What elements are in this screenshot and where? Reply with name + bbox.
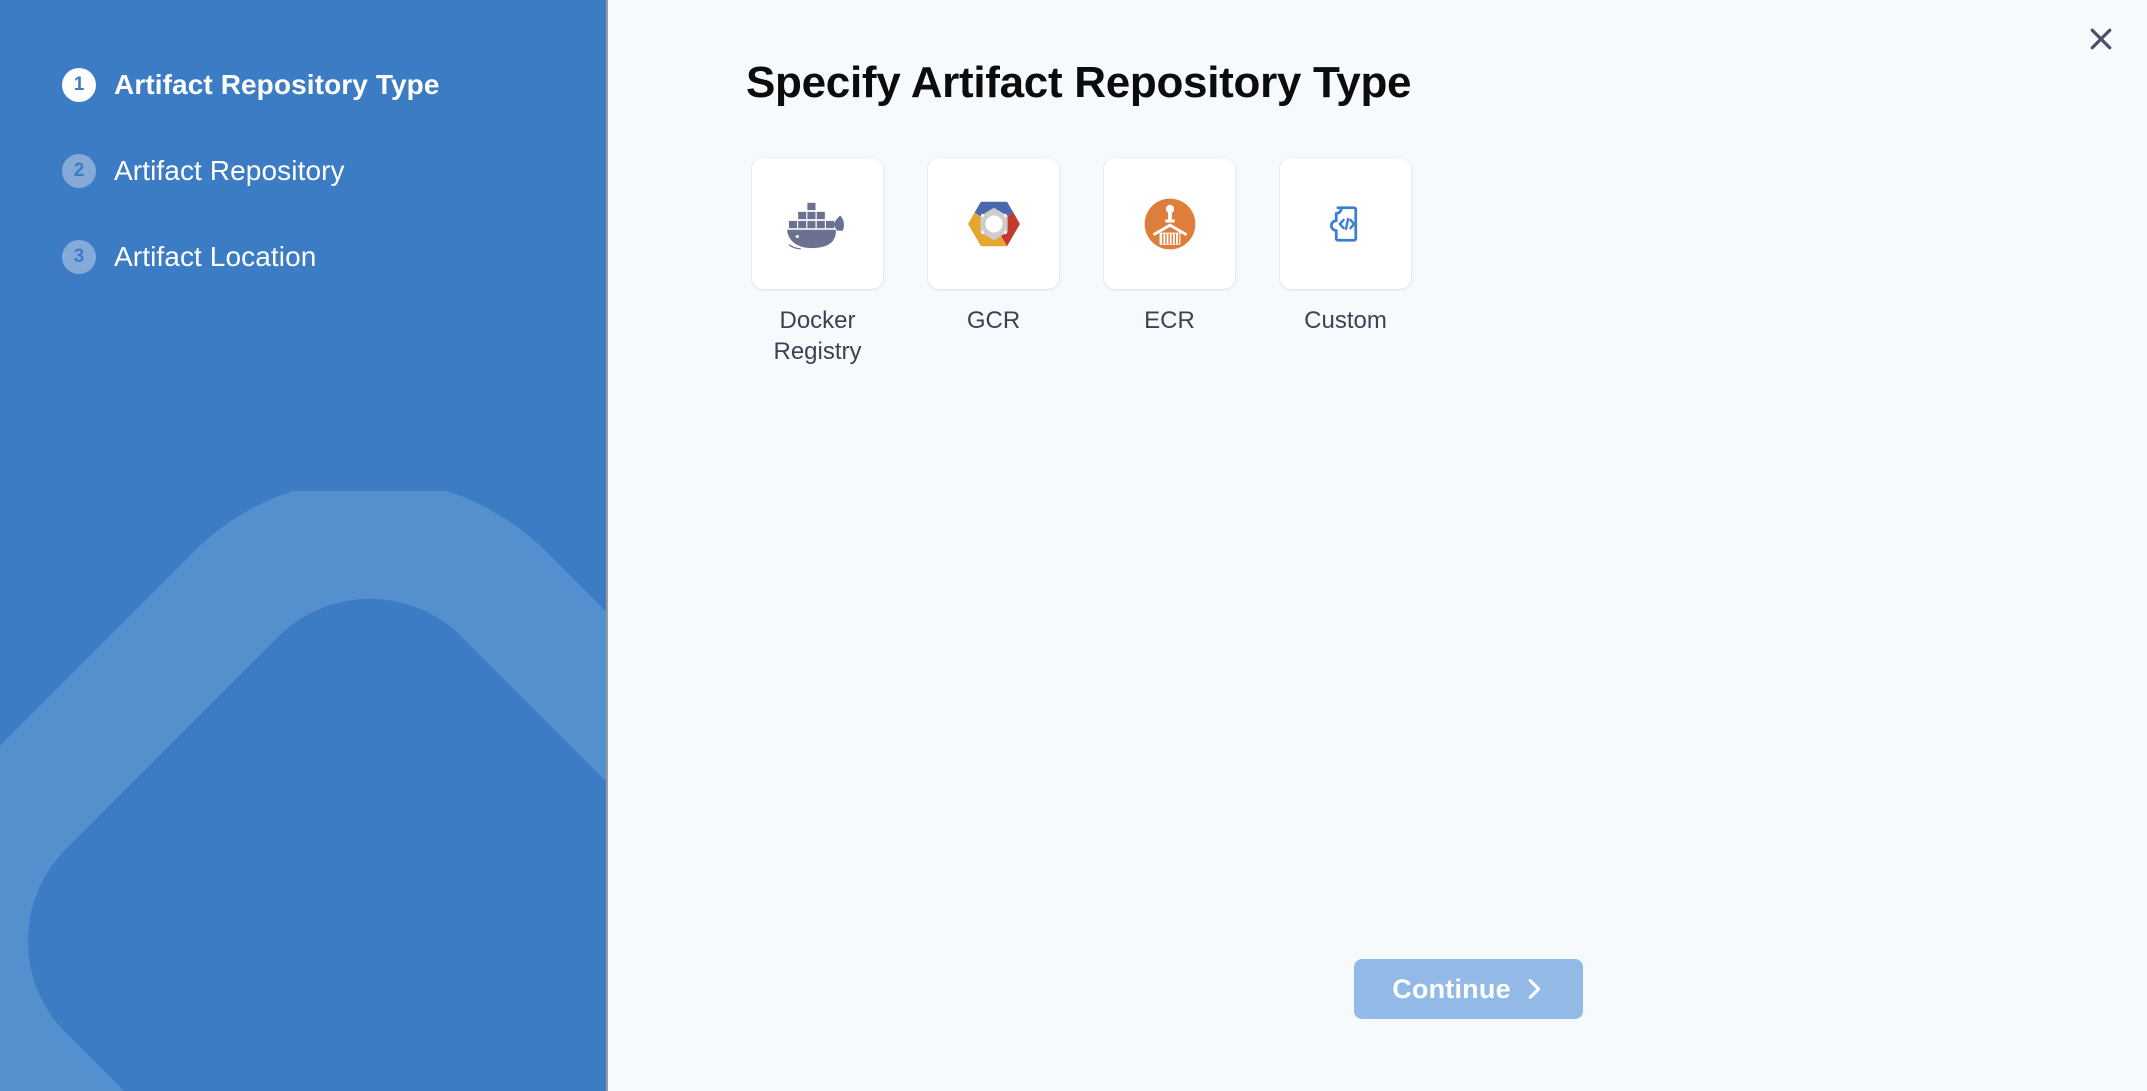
sidebar-step-artifact-repository[interactable]: 2 Artifact Repository	[0, 149, 606, 193]
step-label: Artifact Repository Type	[114, 69, 440, 101]
repository-type-card-ecr[interactable]	[1104, 158, 1235, 289]
continue-button-label: Continue	[1392, 974, 1511, 1005]
wizard-sidebar: 1 Artifact Repository Type 2 Artifact Re…	[0, 0, 608, 1091]
repository-type-label: GCR	[934, 305, 1054, 336]
sidebar-step-artifact-repository-type[interactable]: 1 Artifact Repository Type	[0, 63, 606, 107]
repository-type-option-custom: Custom	[1280, 158, 1411, 336]
close-dialog-button[interactable]	[2077, 15, 2125, 63]
step-label: Artifact Repository	[114, 155, 345, 187]
wizard-step-list: 1 Artifact Repository Type 2 Artifact Re…	[0, 0, 606, 279]
page-title: Specify Artifact Repository Type	[746, 58, 1411, 108]
ecr-icon	[1141, 195, 1199, 253]
step-number-badge: 1	[62, 68, 96, 102]
step-number-badge: 2	[62, 154, 96, 188]
repository-type-option-ecr: ECR	[1104, 158, 1235, 336]
repository-type-option-gcr: GCR	[928, 158, 1059, 336]
repository-type-card-list: Docker Registry	[752, 158, 1411, 367]
harness-logo-watermark	[0, 491, 608, 1091]
sidebar-step-artifact-location[interactable]: 3 Artifact Location	[0, 235, 606, 279]
custom-code-icon	[1320, 198, 1372, 250]
repository-type-label: Docker Registry	[758, 305, 878, 367]
repository-type-card-docker[interactable]	[752, 158, 883, 289]
docker-icon	[787, 198, 849, 250]
chevron-right-icon	[1525, 977, 1545, 1001]
gcr-icon	[965, 195, 1023, 253]
artifact-repository-wizard: 1 Artifact Repository Type 2 Artifact Re…	[0, 0, 2147, 1091]
repository-type-card-gcr[interactable]	[928, 158, 1059, 289]
repository-type-option-docker: Docker Registry	[752, 158, 883, 367]
step-label: Artifact Location	[114, 241, 316, 273]
wizard-main-panel: Specify Artifact Repository Type	[608, 0, 2147, 1091]
step-number-badge: 3	[62, 240, 96, 274]
repository-type-label: Custom	[1286, 305, 1406, 336]
continue-button[interactable]: Continue	[1354, 959, 1583, 1019]
close-icon	[2086, 24, 2116, 54]
repository-type-label: ECR	[1110, 305, 1230, 336]
repository-type-card-custom[interactable]	[1280, 158, 1411, 289]
